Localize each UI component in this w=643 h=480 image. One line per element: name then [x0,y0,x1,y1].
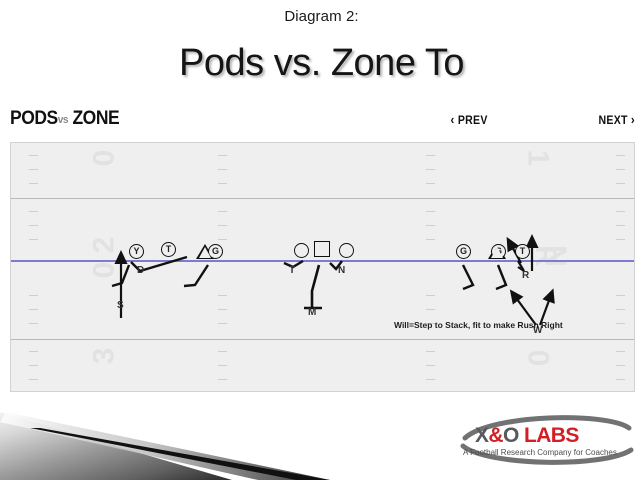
chevron-right-icon: › [631,112,635,127]
hash-mark [616,155,625,156]
football-field-diagram[interactable]: 0 2 0 3 1 R N 0 [10,142,635,392]
player-marker-t-right-label: T [515,244,530,259]
brand-text-vs: vs [58,114,68,126]
player-marker-g-right1[interactable]: G [456,244,471,259]
route-path-right-g1 [463,265,473,289]
page-title: Pods vs. Zone To [0,42,643,85]
player-marker-t-right[interactable]: T [515,244,530,259]
hash-mark [29,351,38,352]
hash-mark [29,169,38,170]
player-marker-y-label: Y [129,244,144,259]
player-marker-t-left-label: T [161,242,176,257]
label-r: R [522,270,529,281]
route-path-mid-square [312,265,319,308]
hash-mark [218,239,227,240]
hash-mark [218,211,227,212]
hash-mark [218,169,227,170]
brand-text-pods: PODS [10,108,58,129]
player-marker-mid-t[interactable] [294,243,309,258]
hash-mark [616,309,625,310]
hash-mark [218,323,227,324]
hash-mark [218,183,227,184]
hash-mark [29,295,38,296]
player-marker-t-left[interactable]: T [161,242,176,257]
field-yard-number: N [538,245,572,267]
viewer-toolbar: PODSvs ZONE ‹ PREV NEXT › [0,104,643,138]
hash-mark [426,169,435,170]
field-yard-number: 0 [87,262,121,279]
player-marker-mid-square[interactable] [314,241,330,257]
footer-swoosh-icon [0,398,330,480]
hash-mark [616,365,625,366]
hash-mark [218,365,227,366]
brand-text-zone: ZONE [72,108,119,129]
hash-mark [426,351,435,352]
hash-mark [616,323,625,324]
label-m: M [308,307,316,318]
label-d: D [137,265,144,276]
logo-o: O [503,424,519,447]
slide-caption: Diagram 2: [0,8,643,25]
hash-mark [29,323,38,324]
label-s: S [117,300,124,311]
label-mid-t: T [289,265,295,276]
player-marker-mid-t-label [294,243,309,258]
player-marker-y[interactable]: Y [129,244,144,259]
xo-labs-logo: X&O LABS A Football Research Company for… [457,412,635,470]
hash-mark [218,379,227,380]
line-of-scrimmage [11,260,634,262]
logo-labs: LABS [524,424,579,447]
logo-x: X [475,424,488,447]
hash-mark [426,155,435,156]
hash-mark [616,351,625,352]
route-path-right-g2 [496,265,506,289]
field-yard-number: 0 [87,150,121,167]
hash-mark [426,225,435,226]
hash-mark [218,155,227,156]
field-line-upper [11,198,634,199]
hash-mark [426,309,435,310]
field-yard-number: 3 [87,348,121,365]
hash-mark [616,211,625,212]
label-n: N [338,265,345,276]
prev-button-label: PREV [458,113,488,127]
hash-mark [29,211,38,212]
logo-tagline: A Football Research Company for Coaches [463,448,617,457]
hash-mark [616,225,625,226]
hash-mark [218,225,227,226]
hash-mark [29,365,38,366]
hash-mark [616,239,625,240]
coaching-annotation: Will=Step to Stack, fit to make Rush Rig… [394,320,563,330]
footer-decoration [0,398,330,480]
hash-mark [426,211,435,212]
hash-mark [616,379,625,380]
field-yard-number: 0 [520,350,554,367]
player-marker-g-right1-label: G [456,244,471,259]
chevron-left-icon: ‹ [451,112,455,127]
hash-mark [426,365,435,366]
next-button-label: NEXT [598,113,627,127]
hash-mark [29,183,38,184]
logo-ampersand: & [488,424,503,447]
square-icon [314,241,330,257]
hash-mark [218,295,227,296]
hash-mark [218,351,227,352]
hash-mark [616,169,625,170]
hash-mark [29,155,38,156]
prev-button[interactable]: ‹ PREV [451,112,488,127]
hash-mark [616,295,625,296]
brand-logo: PODSvs ZONE [10,108,119,130]
player-marker-mid-n[interactable] [339,243,354,258]
hash-mark [616,183,625,184]
logo-wordmark: X&O LABS [475,424,579,448]
next-button[interactable]: NEXT › [598,112,635,127]
route-path-g [184,265,208,286]
field-line-lower [11,339,634,340]
hash-mark [29,225,38,226]
hash-mark [29,239,38,240]
hash-mark [426,239,435,240]
hash-mark [426,295,435,296]
hash-mark [29,379,38,380]
player-marker-mid-n-label [339,243,354,258]
hash-mark [426,379,435,380]
field-yard-number: 2 [87,237,121,254]
field-yard-number: 1 [520,150,554,167]
hash-mark [29,309,38,310]
hash-mark [426,183,435,184]
hash-mark [218,309,227,310]
